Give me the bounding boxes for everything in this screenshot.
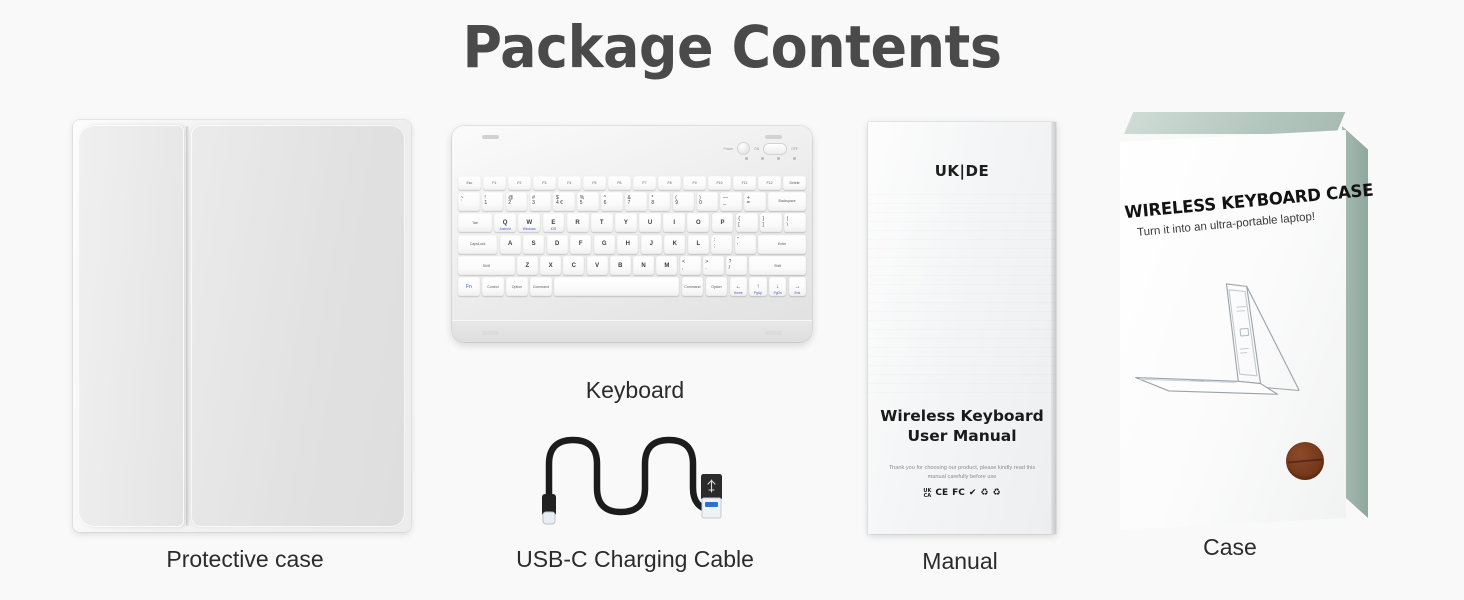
key-arrow-right: →End xyxy=(789,277,806,296)
key-h: H xyxy=(617,235,638,254)
keyboard-number-row: ~` !1 @2 #3 $4 € %5 ^6 &7 *8 (9 )0 —_ +=… xyxy=(458,192,806,211)
key-3: #3 xyxy=(530,192,552,211)
caption-usb-c-cable: USB-C Charging Cable xyxy=(440,546,830,573)
key-m: M xyxy=(656,256,677,275)
key-7: &7 xyxy=(625,192,647,211)
caption-keyboard: Keyboard xyxy=(520,377,750,404)
key-backspace: Backspace xyxy=(768,192,806,211)
caption-manual: Manual xyxy=(860,548,1060,575)
keyboard-shift-row: Shift Z X C V B N M <, >. ?/ Shift xyxy=(458,256,806,275)
key-enter: Enter xyxy=(758,235,806,254)
product-keyboard: Power ON OFF Esc F1 F2 F3 F4 F5 F6 F7 F8… xyxy=(452,126,812,342)
product-case-box: WIRELESS KEYBOARD CASE Turn it into an u… xyxy=(1108,112,1368,536)
key-y: Y xyxy=(615,213,637,232)
key-t: T xyxy=(591,213,613,232)
cable-illustration xyxy=(525,424,740,528)
key-5: %5 xyxy=(577,192,599,211)
product-usb-c-cable xyxy=(525,424,740,528)
key-f3: F3 xyxy=(533,176,556,190)
keyboard-indicator-leds xyxy=(745,157,796,160)
keyboard-home-row: CapsLock A S D F G H J K L :; "' Enter xyxy=(458,235,806,254)
key-6: ^6 xyxy=(601,192,623,211)
key-k: K xyxy=(664,235,685,254)
keyboard-top-bezel: Power ON OFF xyxy=(452,126,812,174)
led-2 xyxy=(761,157,764,160)
box-product-illustration xyxy=(1118,270,1339,436)
key-shift-right: Shift xyxy=(749,256,806,275)
key-command-left: Command xyxy=(530,277,552,296)
tablet-stand-line-art xyxy=(1118,270,1339,436)
key-s: S xyxy=(523,235,544,254)
off-label: OFF xyxy=(791,147,798,151)
key-b: B xyxy=(610,256,631,275)
led-4 xyxy=(793,157,796,160)
case-right-panel xyxy=(191,125,405,527)
key-8: *8 xyxy=(649,192,671,211)
key-4: $4 € xyxy=(553,192,575,211)
key-1: !1 xyxy=(482,192,504,211)
page-title: Package Contents xyxy=(51,18,1413,76)
key-f1: F1 xyxy=(483,176,506,190)
key-f6: F6 xyxy=(608,176,631,190)
key-f: F xyxy=(570,235,591,254)
ukca-icon: UKCA xyxy=(923,489,931,499)
switch-label: ON xyxy=(754,147,759,151)
key-space xyxy=(554,277,679,296)
key-9: (9 xyxy=(673,192,695,211)
key-v: V xyxy=(587,256,608,275)
fc-icon: FC xyxy=(952,489,965,498)
key-f8: F8 xyxy=(658,176,681,190)
key-u: U xyxy=(639,213,661,232)
key-f9: F9 xyxy=(683,176,706,190)
key-d: D xyxy=(547,235,568,254)
key-a: A xyxy=(500,235,521,254)
key-i: I xyxy=(663,213,685,232)
ce-icon: CE xyxy=(935,489,948,498)
key-comma: <, xyxy=(680,256,701,275)
key-bracket-left: {[ xyxy=(736,213,758,232)
key-c: C xyxy=(563,256,584,275)
key-arrow-left: ←Home xyxy=(730,277,747,296)
key-tab: Tab xyxy=(458,213,492,232)
key-slash: ?/ xyxy=(726,256,747,275)
key-2: @2 xyxy=(506,192,528,211)
key-f7: F7 xyxy=(633,176,656,190)
key-l: L xyxy=(688,235,709,254)
manual-spine-edge xyxy=(1051,122,1056,534)
check-icon: ✔ xyxy=(969,489,977,498)
key-z: Z xyxy=(517,256,538,275)
key-delete: Delete xyxy=(783,176,806,190)
key-q: QAndroid xyxy=(494,213,516,232)
case-left-flap xyxy=(78,125,184,527)
key-equals: += xyxy=(744,192,766,211)
keyboard-notch-left xyxy=(482,135,499,139)
key-command-right: Command xyxy=(682,277,704,296)
key-x: X xyxy=(540,256,561,275)
key-arrow-up: ↑PgUp xyxy=(749,277,766,296)
key-p: P xyxy=(712,213,734,232)
key-f4: F4 xyxy=(558,176,581,190)
key-capslock: CapsLock xyxy=(458,235,497,254)
key-f10: F10 xyxy=(708,176,731,190)
keyboard-foot-right xyxy=(765,331,782,335)
key-j: J xyxy=(641,235,662,254)
key-w: WWindows xyxy=(518,213,540,232)
key-o: O xyxy=(687,213,709,232)
key-e: EiOS xyxy=(543,213,565,232)
product-manual: UK|DE Wireless Keyboard User Manual Than… xyxy=(868,122,1056,534)
key-r: R xyxy=(567,213,589,232)
manual-title: Wireless Keyboard User Manual xyxy=(868,407,1056,447)
key-period: >. xyxy=(703,256,724,275)
key-backtick: ~` xyxy=(458,192,480,211)
keyboard-foot-left xyxy=(482,331,499,335)
key-n: N xyxy=(633,256,654,275)
key-f5: F5 xyxy=(583,176,606,190)
key-control: Control xyxy=(482,277,504,296)
key-f2: F2 xyxy=(508,176,531,190)
key-bracket-right: }] xyxy=(760,213,782,232)
manual-subtitle: Thank you for choosing our product, plea… xyxy=(880,464,1044,481)
case-fold-seam xyxy=(186,126,190,526)
keyboard-bottom-bezel xyxy=(452,320,812,342)
led-1 xyxy=(745,157,748,160)
key-f12: F12 xyxy=(758,176,781,190)
key-f11: F11 xyxy=(733,176,756,190)
key-arrow-down: ↓PgDn xyxy=(769,277,786,296)
key-option-left: Option xyxy=(506,277,528,296)
product-protective-case xyxy=(73,120,411,532)
key-shift-left: Shift xyxy=(458,256,515,275)
mode-switch-icon xyxy=(764,144,786,154)
key-backslash: |\ xyxy=(784,213,806,232)
power-knob-icon xyxy=(738,143,749,154)
manual-brand: UK|DE xyxy=(868,162,1056,180)
manual-title-line2: User Manual xyxy=(868,427,1056,447)
recycle-icon: ♻ xyxy=(993,489,1001,498)
key-fn: Fn xyxy=(458,277,480,296)
key-0: )0 xyxy=(697,192,719,211)
caption-protective-case: Protective case xyxy=(90,546,400,573)
weee-bin-icon: ♻ xyxy=(980,489,988,498)
caption-case: Case xyxy=(1130,534,1330,561)
box-top-edge xyxy=(1124,112,1345,134)
power-label: Power xyxy=(724,147,734,151)
key-minus: —_ xyxy=(720,192,742,211)
key-esc: Esc xyxy=(458,176,481,190)
key-quote: "' xyxy=(735,235,756,254)
manual-certification-marks: UKCA CE FC ✔ ♻ ♻ xyxy=(868,489,1056,499)
keyboard-notch-right xyxy=(765,135,782,139)
key-g: G xyxy=(594,235,615,254)
keyboard-bottom-row: Fn Control Option Command Command Option… xyxy=(458,277,806,296)
keyboard-function-row: Esc F1 F2 F3 F4 F5 F6 F7 F8 F9 F10 F11 F… xyxy=(458,176,806,190)
keyboard-qwerty-row: Tab QAndroid WWindows EiOS R T Y U I O P… xyxy=(458,213,806,232)
keyboard-controls: Power ON OFF xyxy=(724,143,799,154)
key-semicolon: :; xyxy=(711,235,732,254)
manual-title-line1: Wireless Keyboard xyxy=(868,407,1056,427)
key-option-right: Option xyxy=(706,277,728,296)
keyboard-keys: Esc F1 F2 F3 F4 F5 F6 F7 F8 F9 F10 F11 F… xyxy=(458,176,806,299)
led-3 xyxy=(777,157,780,160)
